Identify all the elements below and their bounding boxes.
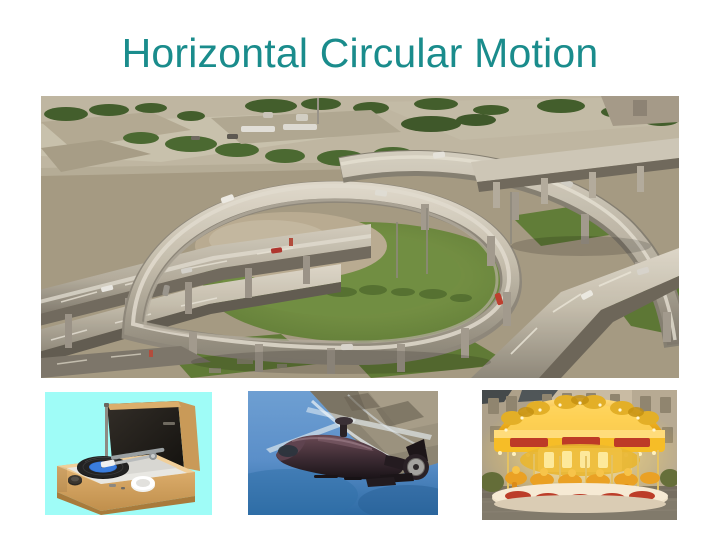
presentation-slide: Horizontal Circular Motion [0,0,720,540]
image-helicopter [248,391,438,515]
image-highway-interchange [41,96,679,378]
page-title: Horizontal Circular Motion [0,28,720,78]
image-record-player [45,392,212,515]
image-carousel [482,390,677,520]
carousel-artwork [482,390,677,520]
highway-interchange-artwork [41,96,679,378]
helicopter-artwork [248,391,438,515]
record-player-artwork [45,392,212,515]
